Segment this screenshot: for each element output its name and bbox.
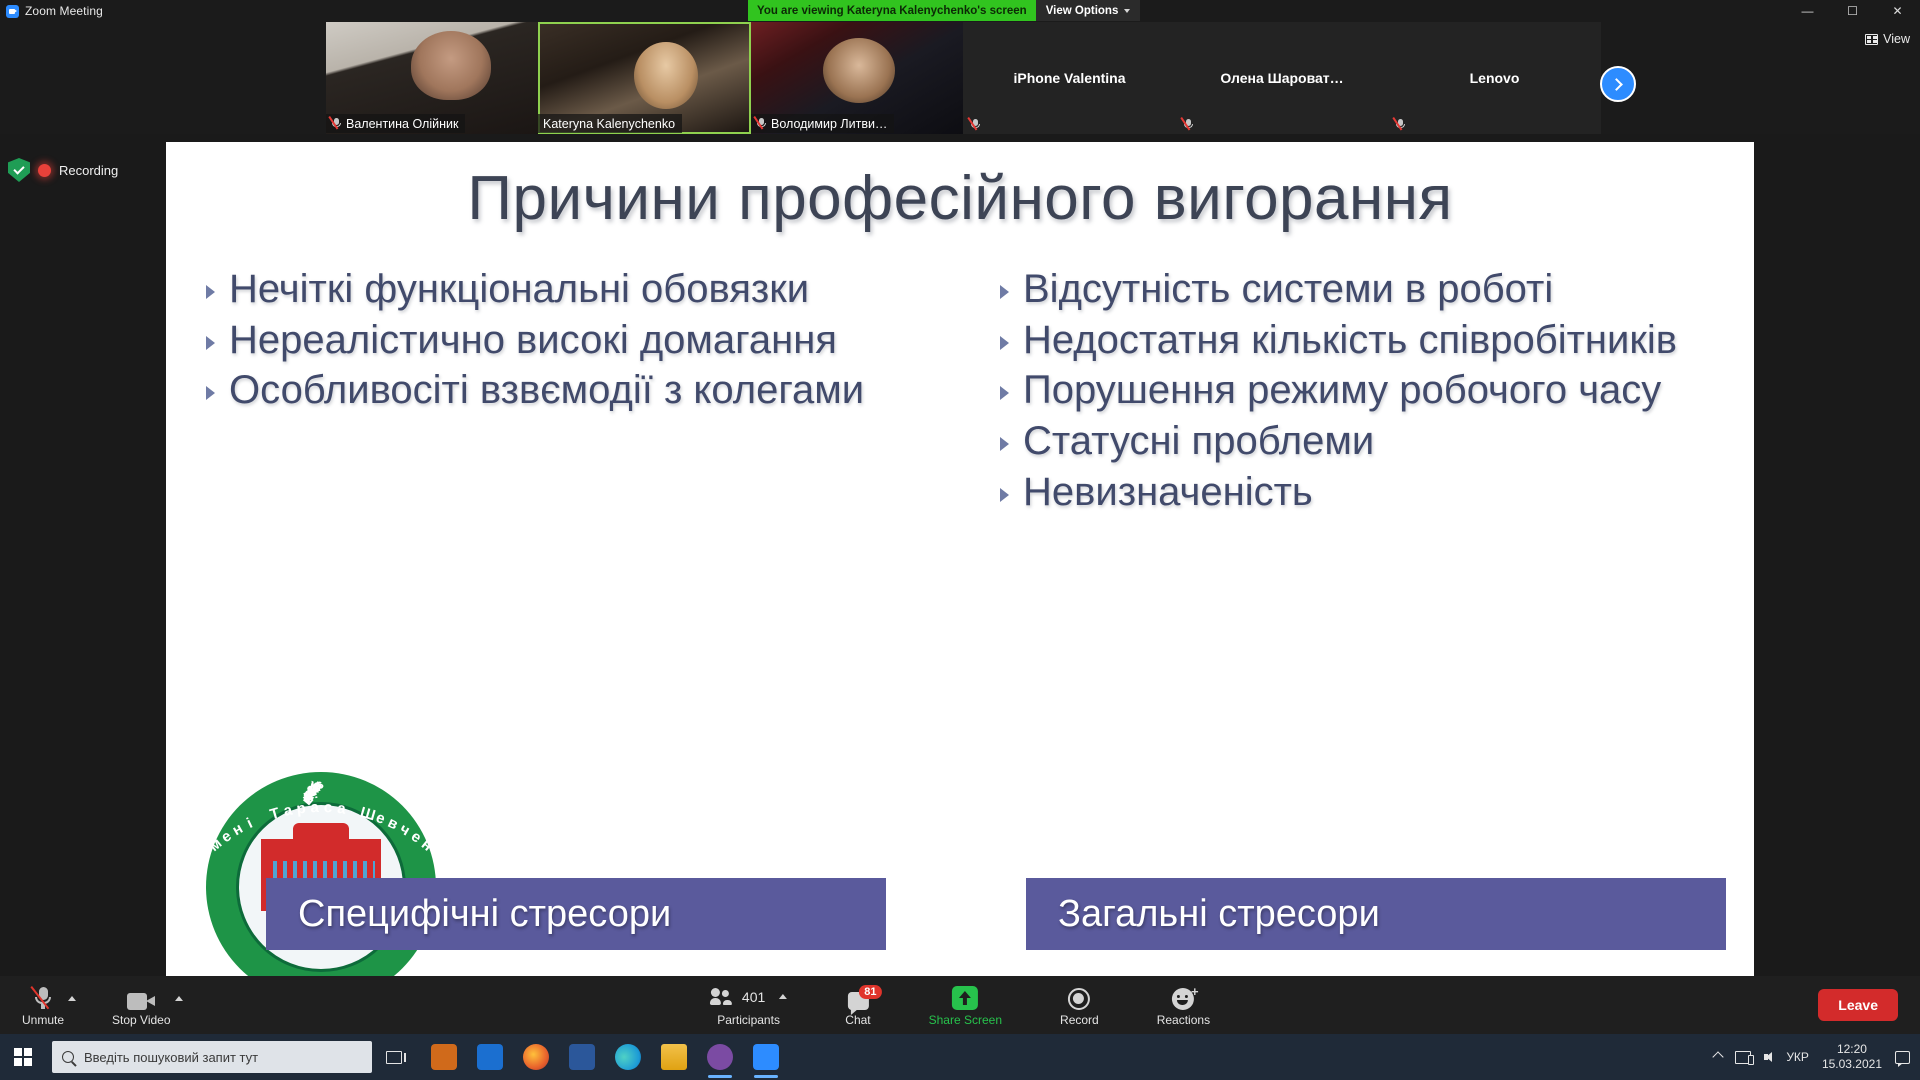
view-options-label: View Options xyxy=(1046,5,1119,17)
filmstrip-next-button[interactable] xyxy=(1600,66,1636,102)
microphone-muted-icon xyxy=(34,984,52,1010)
bullet-item: Невизначеність xyxy=(1000,469,1714,516)
participants-label: Participants xyxy=(717,1013,780,1027)
bullet-text: Невизначеність xyxy=(1023,469,1714,516)
taskbar-app-explorer[interactable] xyxy=(654,1035,694,1079)
search-placeholder: Введіть пошуковий запит тут xyxy=(84,1050,258,1065)
bullet-triangle-icon xyxy=(206,285,215,299)
unmute-label: Unmute xyxy=(22,1013,64,1027)
taskbar-app-viber[interactable] xyxy=(700,1035,740,1079)
participant-name-badge: Kateryna Kalenychenko xyxy=(538,114,682,133)
taskbar-app-edge[interactable] xyxy=(608,1035,648,1079)
bullet-text: Нереалістично високі домагання xyxy=(229,317,960,364)
taskbar-app-store[interactable] xyxy=(424,1035,464,1079)
bullet-text: Особливосіті взвємодії з колегами xyxy=(229,367,960,414)
bullet-item: Порушення режиму робочого часу xyxy=(1000,367,1714,414)
bullet-triangle-icon xyxy=(1000,437,1009,451)
search-icon xyxy=(62,1051,74,1063)
reactions-label: Reactions xyxy=(1157,1013,1210,1027)
bullet-triangle-icon xyxy=(1000,336,1009,350)
screen-share-banner: You are viewing Kateryna Kalenychenko's … xyxy=(748,0,1140,21)
chat-unread-badge: 81 xyxy=(859,985,881,999)
stop-video-button[interactable]: Stop Video xyxy=(112,976,171,1034)
camera-icon xyxy=(127,984,155,1010)
chevron-down-icon xyxy=(1124,9,1130,13)
bullet-text: Статусні проблеми xyxy=(1023,418,1714,465)
bullet-text: Відсутність системи в роботі xyxy=(1023,266,1714,313)
participant-tile-valentyna-oliynyk[interactable]: Валентина Олійник xyxy=(326,22,538,134)
maximize-button[interactable]: ☐ xyxy=(1830,0,1875,22)
taskbar-app-zoom[interactable] xyxy=(746,1035,786,1079)
language-indicator[interactable]: УКР xyxy=(1786,1050,1809,1064)
share-banner-text: You are viewing Kateryna Kalenychenko's … xyxy=(748,0,1036,21)
slide-column-left: Нечіткі функціональні обовязки Нереаліст… xyxy=(206,266,960,520)
taskbar-app-list xyxy=(424,1035,786,1079)
university-logo: КНУ імені Тараса Шевченка психологічна с… xyxy=(206,772,436,982)
slide-title: Причини професійного вигорання xyxy=(166,142,1754,240)
bullet-text: Недостатня кількість співробітників xyxy=(1023,317,1714,364)
view-button-label: View xyxy=(1883,32,1910,46)
close-button[interactable]: ✕ xyxy=(1875,0,1920,22)
view-layout-button[interactable]: View xyxy=(1865,32,1910,46)
notification-center-icon[interactable] xyxy=(1895,1051,1910,1064)
participant-tile-volodymyr-lytvyn[interactable]: Володимир Литви… xyxy=(751,22,963,134)
record-button[interactable]: Record xyxy=(1060,976,1099,1034)
share-screen-icon xyxy=(952,984,978,1010)
slide-columns: Нечіткі функціональні обовязки Нереаліст… xyxy=(166,266,1754,520)
bullet-item: Недостатня кількість співробітників xyxy=(1000,317,1714,364)
start-button[interactable] xyxy=(0,1034,46,1080)
task-view-icon xyxy=(386,1051,402,1064)
general-stressors-box: Загальні стресори xyxy=(1026,878,1726,950)
shared-screen-content[interactable]: Причини професійного вигорання Нечіткі ф… xyxy=(166,142,1754,982)
bullet-triangle-icon xyxy=(1000,386,1009,400)
participant-name: Lenovo xyxy=(1470,70,1520,86)
unmute-button[interactable]: Unmute xyxy=(22,976,64,1034)
participant-name-badge: Валентина Олійник xyxy=(326,114,465,133)
mic-muted-icon xyxy=(331,117,342,130)
view-options-button[interactable]: View Options xyxy=(1036,0,1141,21)
taskbar-app-firefox[interactable] xyxy=(516,1035,556,1079)
bullet-text: Нечіткі функціональні обовязки xyxy=(229,266,960,313)
chevron-right-icon xyxy=(1610,78,1623,91)
participant-tile-olena-sharovat[interactable]: Олена Шароват… xyxy=(1176,22,1388,134)
system-tray: УКР 12:20 15.03.2021 xyxy=(1714,1034,1920,1080)
audio-options-caret[interactable] xyxy=(68,988,76,1006)
recording-indicator[interactable]: Recording xyxy=(8,158,118,182)
taskbar-search-input[interactable]: Введіть пошуковий запит тут xyxy=(52,1041,372,1073)
clock[interactable]: 12:20 15.03.2021 xyxy=(1822,1042,1882,1072)
bullet-item: Особливосіті взвємодії з колегами xyxy=(206,367,960,414)
stop-video-label: Stop Video xyxy=(112,1013,171,1027)
mic-muted-icon xyxy=(970,118,981,131)
participant-tile-kateryna-kalenychenko[interactable]: Kateryna Kalenychenko xyxy=(538,22,751,134)
clock-date: 15.03.2021 xyxy=(1822,1057,1882,1072)
volume-icon[interactable] xyxy=(1764,1052,1773,1063)
recording-dot-icon xyxy=(38,164,51,177)
share-screen-label: Share Screen xyxy=(929,1013,1002,1027)
show-hidden-icons-icon[interactable] xyxy=(1713,1051,1724,1062)
toolbar-center-group: 401 Participants 81 Chat Share Screen Re… xyxy=(710,976,1210,1034)
zoom-logo-icon xyxy=(6,5,19,18)
participants-icon: 401 xyxy=(710,984,787,1010)
specific-stressors-label: Специфічні стресори xyxy=(298,893,671,936)
bullet-triangle-icon xyxy=(206,336,215,350)
share-screen-button[interactable]: Share Screen xyxy=(929,976,1002,1034)
reactions-button[interactable]: + Reactions xyxy=(1157,976,1210,1034)
bullet-triangle-icon xyxy=(206,386,215,400)
logo-arc-bottom-text: психологічна служба xyxy=(206,772,436,982)
record-icon xyxy=(1068,984,1090,1010)
filmstrip-left-gap xyxy=(0,22,326,134)
participant-tile-lenovo[interactable]: Lenovo xyxy=(1388,22,1601,134)
chat-label: Chat xyxy=(845,1013,870,1027)
taskbar-app-word[interactable] xyxy=(562,1035,602,1079)
participant-name: Валентина Олійник xyxy=(346,117,458,131)
bullet-triangle-icon xyxy=(1000,488,1009,502)
reactions-icon: + xyxy=(1172,984,1194,1010)
participant-tile-iphone-valentina[interactable]: iPhone Valentina xyxy=(963,22,1176,134)
window-title: Zoom Meeting xyxy=(25,4,103,18)
grid-view-icon xyxy=(1865,34,1878,45)
recording-label: Recording xyxy=(59,163,118,178)
leave-label: Leave xyxy=(1838,997,1878,1013)
minimize-button[interactable]: — xyxy=(1785,0,1830,22)
participants-button[interactable]: 401 Participants xyxy=(710,976,787,1034)
chat-icon: 81 xyxy=(847,984,868,1010)
task-view-button[interactable] xyxy=(372,1034,416,1080)
security-shield-icon[interactable] xyxy=(8,158,30,182)
taskbar-app-mail[interactable] xyxy=(470,1035,510,1079)
chat-button[interactable]: 81 Chat xyxy=(845,976,870,1034)
participants-count: 401 xyxy=(742,989,765,1005)
mic-muted-icon xyxy=(1395,118,1406,131)
participant-name: Володимир Литви… xyxy=(771,117,887,131)
mic-muted-icon xyxy=(756,117,767,130)
participant-name-badge: Володимир Литви… xyxy=(751,114,894,133)
bullet-triangle-icon xyxy=(1000,285,1009,299)
network-icon[interactable] xyxy=(1735,1051,1751,1064)
participant-name: Олена Шароват… xyxy=(1220,70,1343,86)
bullet-item: Нечіткі функціональні обовязки xyxy=(206,266,960,313)
windows-logo-icon xyxy=(14,1048,32,1066)
bullet-item: Нереалістично високі домагання xyxy=(206,317,960,364)
clock-time: 12:20 xyxy=(1837,1042,1867,1057)
window-controls: — ☐ ✕ xyxy=(1785,0,1920,22)
zoom-meeting-toolbar: Unmute Stop Video 401 Participants 81 Ch… xyxy=(0,976,1920,1034)
leave-meeting-button[interactable]: Leave xyxy=(1818,989,1898,1021)
mic-muted-icon xyxy=(1183,118,1194,131)
bullet-text: Порушення режиму робочого часу xyxy=(1023,367,1714,414)
specific-stressors-box: Специфічні стресори xyxy=(266,878,886,950)
bullet-item: Статусні проблеми xyxy=(1000,418,1714,465)
record-label: Record xyxy=(1060,1013,1099,1027)
participant-name: Kateryna Kalenychenko xyxy=(543,117,675,131)
bullet-item: Відсутність системи в роботі xyxy=(1000,266,1714,313)
general-stressors-label: Загальні стресори xyxy=(1058,893,1380,936)
participant-name: iPhone Valentina xyxy=(1013,70,1125,86)
video-options-caret[interactable] xyxy=(175,988,183,1006)
windows-taskbar: Введіть пошуковий запит тут УКР 12:20 15… xyxy=(0,1034,1920,1080)
slide-column-right: Відсутність системи в роботі Недостатня … xyxy=(960,266,1714,520)
